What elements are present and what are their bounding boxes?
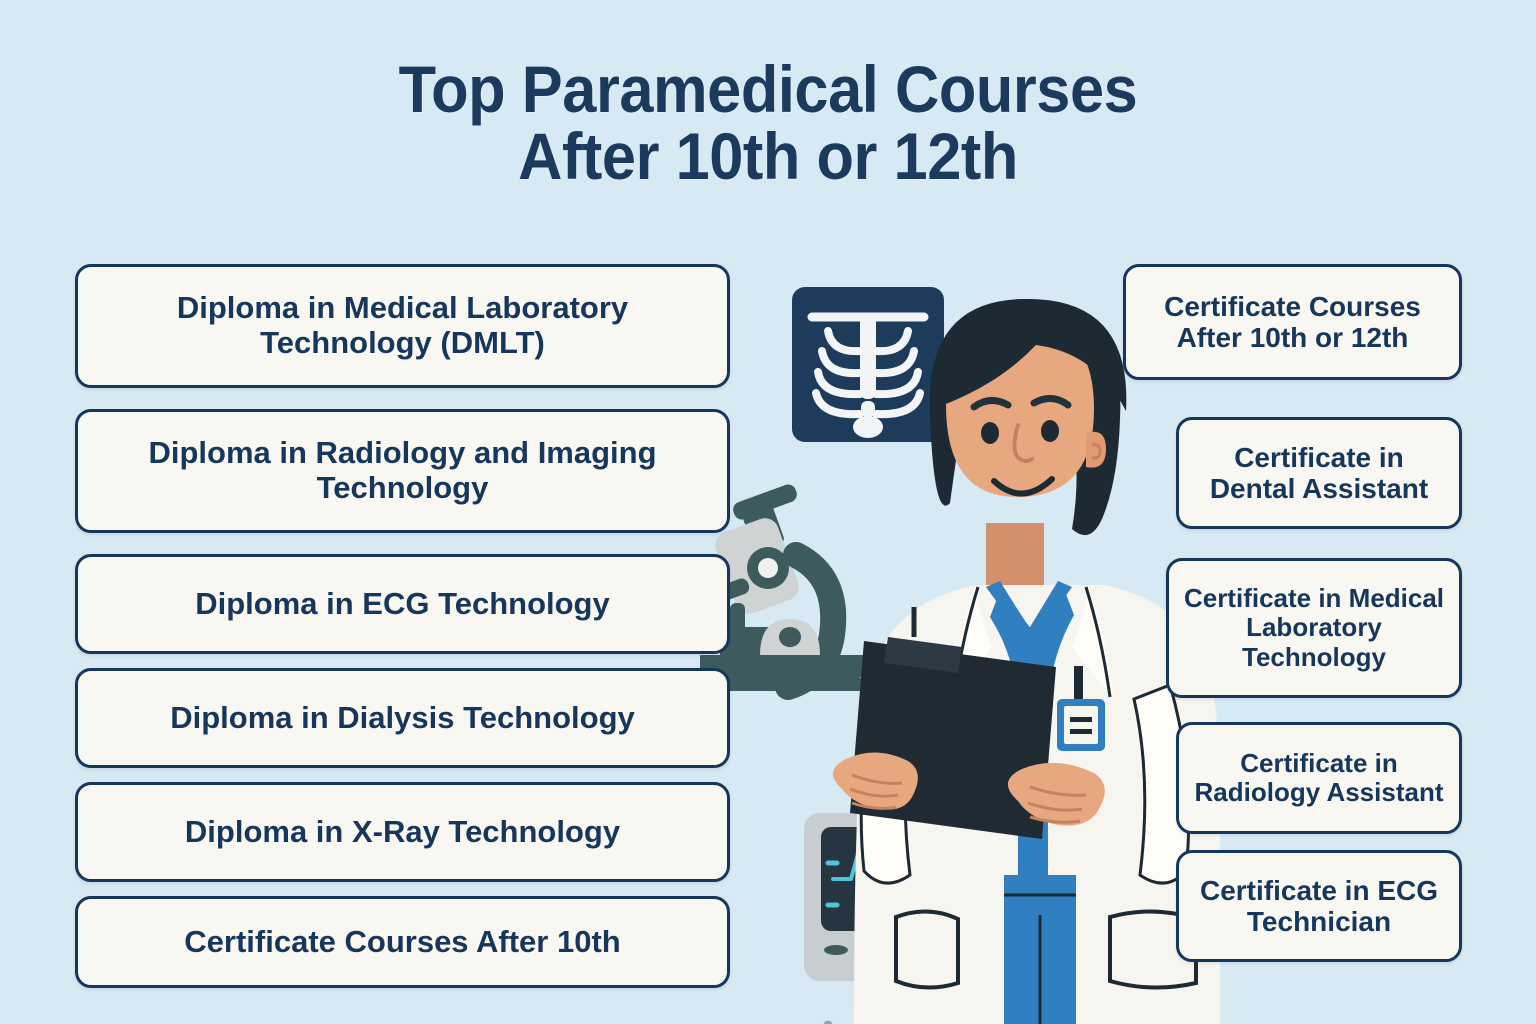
course-card-dmlt[interactable]: Diploma in Medical Laboratory Technology… [75, 264, 730, 388]
course-card-certificate-courses-after-10th-or-12th[interactable]: Certificate Courses After 10th or 12th [1123, 264, 1462, 380]
course-card-certificate-ecg-technician[interactable]: Certificate in ECG Technician [1176, 850, 1462, 962]
course-card-label: Certificate Courses After 10th or 12th [1126, 291, 1459, 354]
course-card-label: Diploma in ECG Technology [185, 587, 620, 622]
course-card-certificate-dental-assistant[interactable]: Certificate in Dental Assistant [1176, 417, 1462, 529]
course-card-label: Certificate Courses After 10th [174, 925, 630, 960]
page-title-line-1: Top Paramedical Courses [54, 56, 1482, 123]
course-card-certificate-after-10th[interactable]: Certificate Courses After 10th [75, 896, 730, 988]
course-card-certificate-radiology-assistant[interactable]: Certificate in Radiology Assistant [1176, 722, 1462, 834]
xray-panel-icon [792, 287, 944, 442]
course-card-xray-technology[interactable]: Diploma in X-Ray Technology [75, 782, 730, 882]
page-title: Top Paramedical Courses After 10th or 12… [54, 56, 1482, 191]
infographic-canvas: Top Paramedical Courses After 10th or 12… [0, 0, 1536, 1024]
course-card-dialysis-technology[interactable]: Diploma in Dialysis Technology [75, 668, 730, 768]
course-card-radiology-imaging[interactable]: Diploma in Radiology and Imaging Technol… [75, 409, 730, 533]
course-card-label: Diploma in Medical Laboratory Technology… [78, 291, 727, 360]
course-card-ecg-technology[interactable]: Diploma in ECG Technology [75, 554, 730, 654]
course-card-label: Certificate in ECG Technician [1179, 875, 1459, 938]
page-title-line-2: After 10th or 12th [54, 123, 1482, 190]
course-card-label: Certificate in Radiology Assistant [1179, 749, 1459, 807]
course-card-label: Diploma in Dialysis Technology [160, 701, 645, 736]
course-card-label: Certificate in Medical Laboratory Techno… [1169, 584, 1459, 671]
course-card-label: Certificate in Dental Assistant [1179, 442, 1459, 505]
course-card-label: Diploma in Radiology and Imaging Technol… [78, 436, 727, 505]
course-card-label: Diploma in X-Ray Technology [175, 815, 630, 850]
course-card-certificate-medical-laboratory-technology[interactable]: Certificate in Medical Laboratory Techno… [1166, 558, 1462, 698]
